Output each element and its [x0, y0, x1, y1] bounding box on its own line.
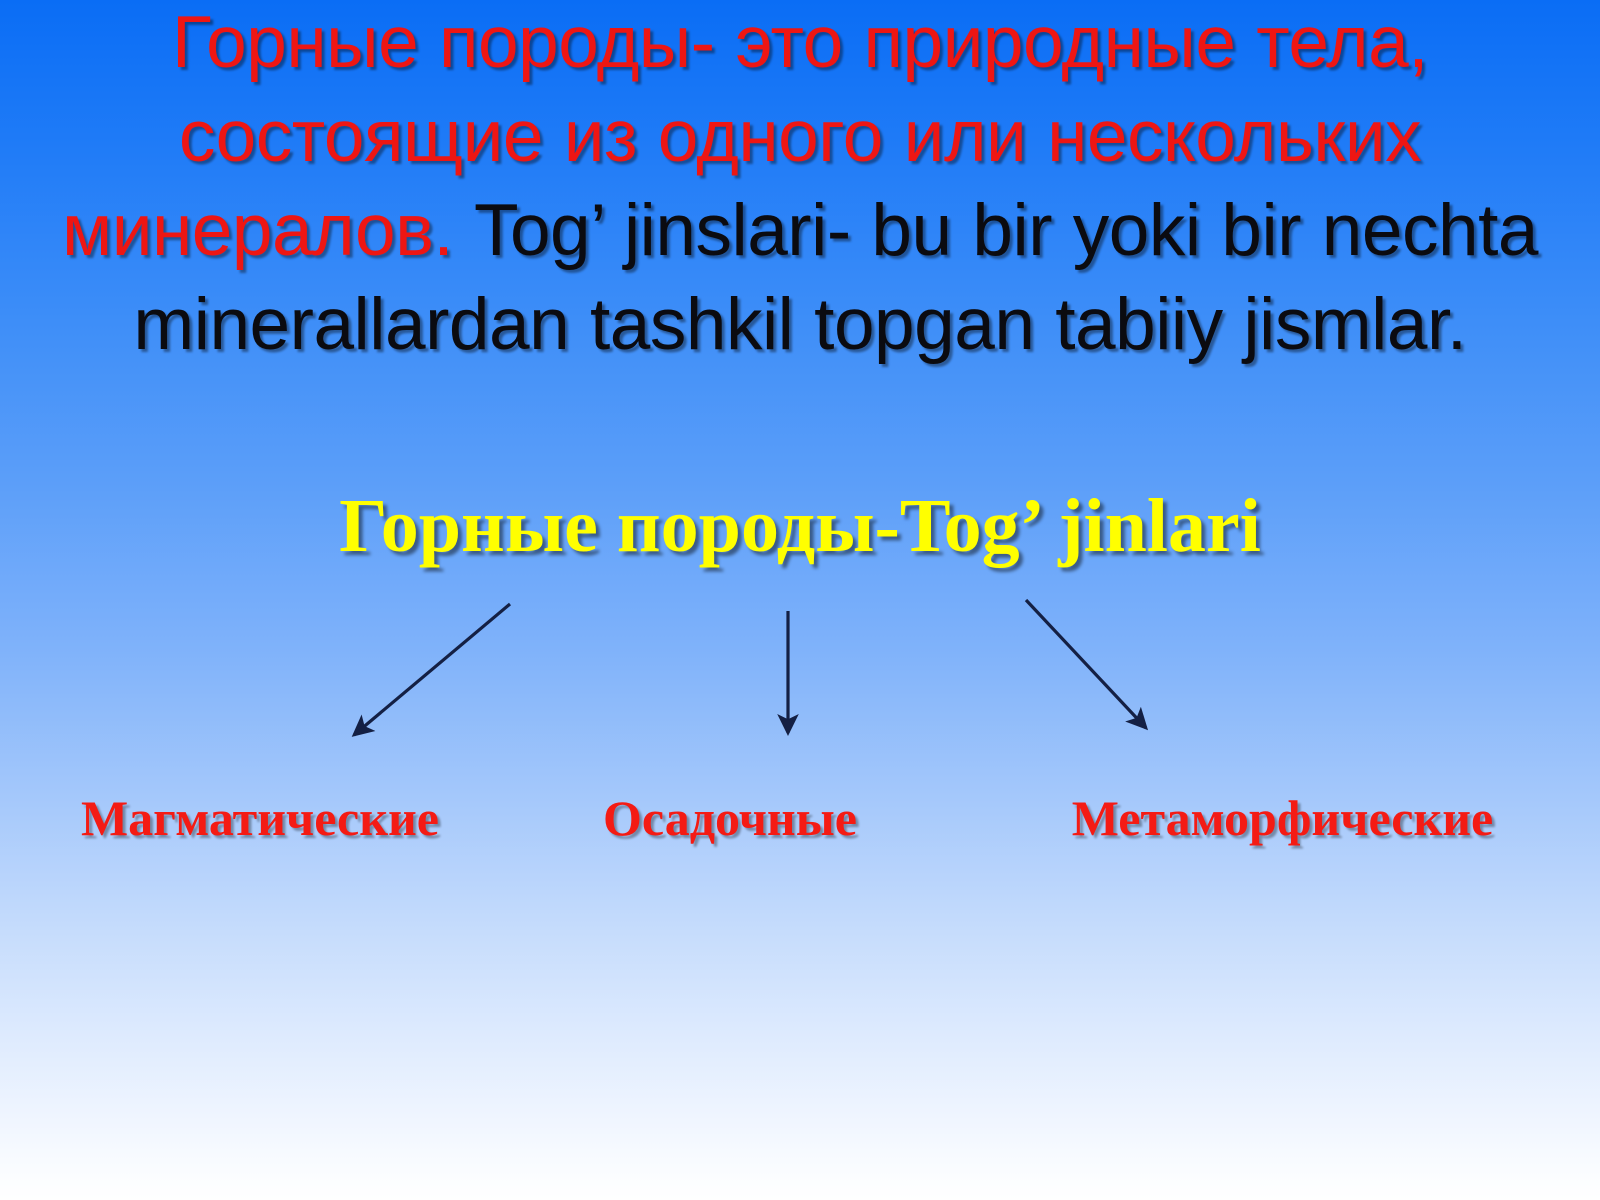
definition-paragraph: Горные породы- это природные тела, состо… [60, 0, 1540, 372]
category-label-sedimentary: Осадочные [520, 790, 940, 846]
arrow-to-metamorphic-icon [1026, 600, 1146, 728]
arrow-to-magmatic-icon [354, 604, 510, 735]
slide-canvas: Горные породы- это природные тела, состо… [0, 0, 1600, 1200]
category-label-magmatic: Магматические [0, 790, 520, 846]
section-heading: Горные породы-Tog’ jinlari [0, 483, 1600, 569]
category-label-metamorphic: Метаморфические [1000, 790, 1565, 846]
